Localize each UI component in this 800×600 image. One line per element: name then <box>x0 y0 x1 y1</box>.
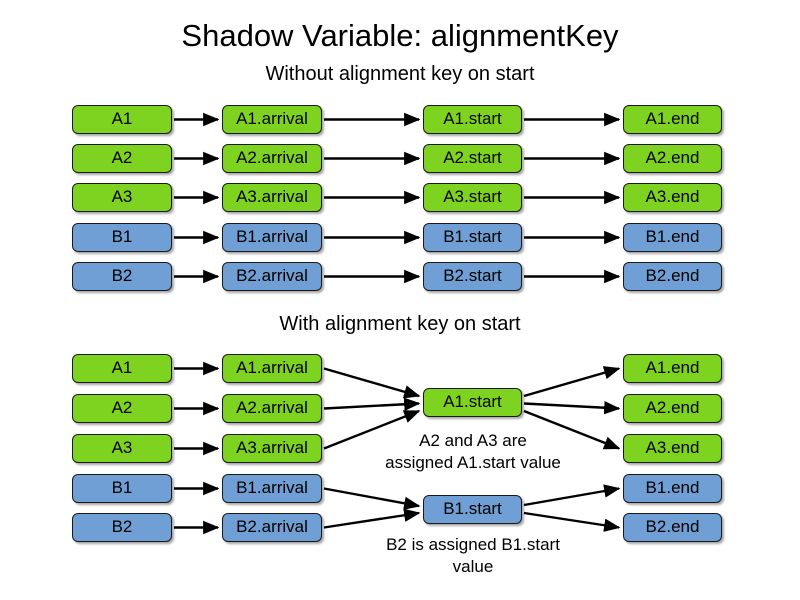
arrow2-arrival-a2-sharedstart <box>324 404 419 409</box>
node2-arrival-a3[interactable]: A3.arrival <box>222 434 322 463</box>
node-arrival-a3[interactable]: A3.arrival <box>222 183 322 212</box>
node2-task-b2[interactable]: B2 <box>72 513 172 542</box>
node2-end-a1[interactable]: A1.end <box>623 354 722 383</box>
node2-arrival-b1[interactable]: B1.arrival <box>222 474 322 503</box>
section-heading-without: Without alignment key on start <box>0 62 800 86</box>
arrow2-sharedstart-a-end-a2 <box>524 404 619 409</box>
node2-arrival-b2[interactable]: B2.arrival <box>222 513 322 542</box>
arrow2-sharedstart-a-end-a1 <box>524 369 619 397</box>
node-start-b2[interactable]: B2.start <box>423 262 522 291</box>
node-arrival-a2[interactable]: A2.arrival <box>222 144 322 173</box>
annotation-b-group: B2 is assigned B1.start value <box>338 534 608 578</box>
node2-task-a3[interactable]: A3 <box>72 434 172 463</box>
page-title: Shadow Variable: alignmentKey <box>0 18 800 54</box>
node-task-a2[interactable]: A2 <box>72 144 172 173</box>
node-arrival-b1[interactable]: B1.arrival <box>222 223 322 252</box>
arrow2-arrival-b1-sharedstart <box>324 489 419 507</box>
node-start-a2[interactable]: A2.start <box>423 144 522 173</box>
arrow-layer <box>0 0 800 600</box>
annotation-a-group: A2 and A3 are assigned A1.start value <box>338 430 608 474</box>
node2-task-a1[interactable]: A1 <box>72 354 172 383</box>
diagram-canvas: Shadow Variable: alignmentKey Without al… <box>0 0 800 600</box>
node2-shared-start-b1[interactable]: B1.start <box>423 495 522 524</box>
node2-task-a2[interactable]: A2 <box>72 394 172 423</box>
node2-end-b1[interactable]: B1.end <box>623 474 722 503</box>
section-heading-with: With alignment key on start <box>0 312 800 336</box>
node2-task-b1[interactable]: B1 <box>72 474 172 503</box>
node-start-a1[interactable]: A1.start <box>423 105 522 134</box>
arrow2-arrival-b2-sharedstart <box>324 513 419 528</box>
node-arrival-b2[interactable]: B2.arrival <box>222 262 322 291</box>
node-task-a1[interactable]: A1 <box>72 105 172 134</box>
node2-end-a2[interactable]: A2.end <box>623 394 722 423</box>
node2-arrival-a1[interactable]: A1.arrival <box>222 354 322 383</box>
node-end-a3[interactable]: A3.end <box>623 183 722 212</box>
node-start-a3[interactable]: A3.start <box>423 183 522 212</box>
arrow2-sharedstart-b-end-b1 <box>524 489 619 506</box>
node-arrival-a1[interactable]: A1.arrival <box>222 105 322 134</box>
node2-end-a3[interactable]: A3.end <box>623 434 722 463</box>
arrow2-sharedstart-b-end-b2 <box>524 513 619 528</box>
node-end-b2[interactable]: B2.end <box>623 262 722 291</box>
node-task-a3[interactable]: A3 <box>72 183 172 212</box>
node2-arrival-a2[interactable]: A2.arrival <box>222 394 322 423</box>
node-task-b2[interactable]: B2 <box>72 262 172 291</box>
node2-shared-start-a1[interactable]: A1.start <box>423 388 522 417</box>
node-end-a2[interactable]: A2.end <box>623 144 722 173</box>
node2-end-b2[interactable]: B2.end <box>623 513 722 542</box>
node-task-b1[interactable]: B1 <box>72 223 172 252</box>
arrow2-arrival-a1-sharedstart <box>324 369 419 397</box>
node-start-b1[interactable]: B1.start <box>423 223 522 252</box>
node-end-a1[interactable]: A1.end <box>623 105 722 134</box>
node-end-b1[interactable]: B1.end <box>623 223 722 252</box>
